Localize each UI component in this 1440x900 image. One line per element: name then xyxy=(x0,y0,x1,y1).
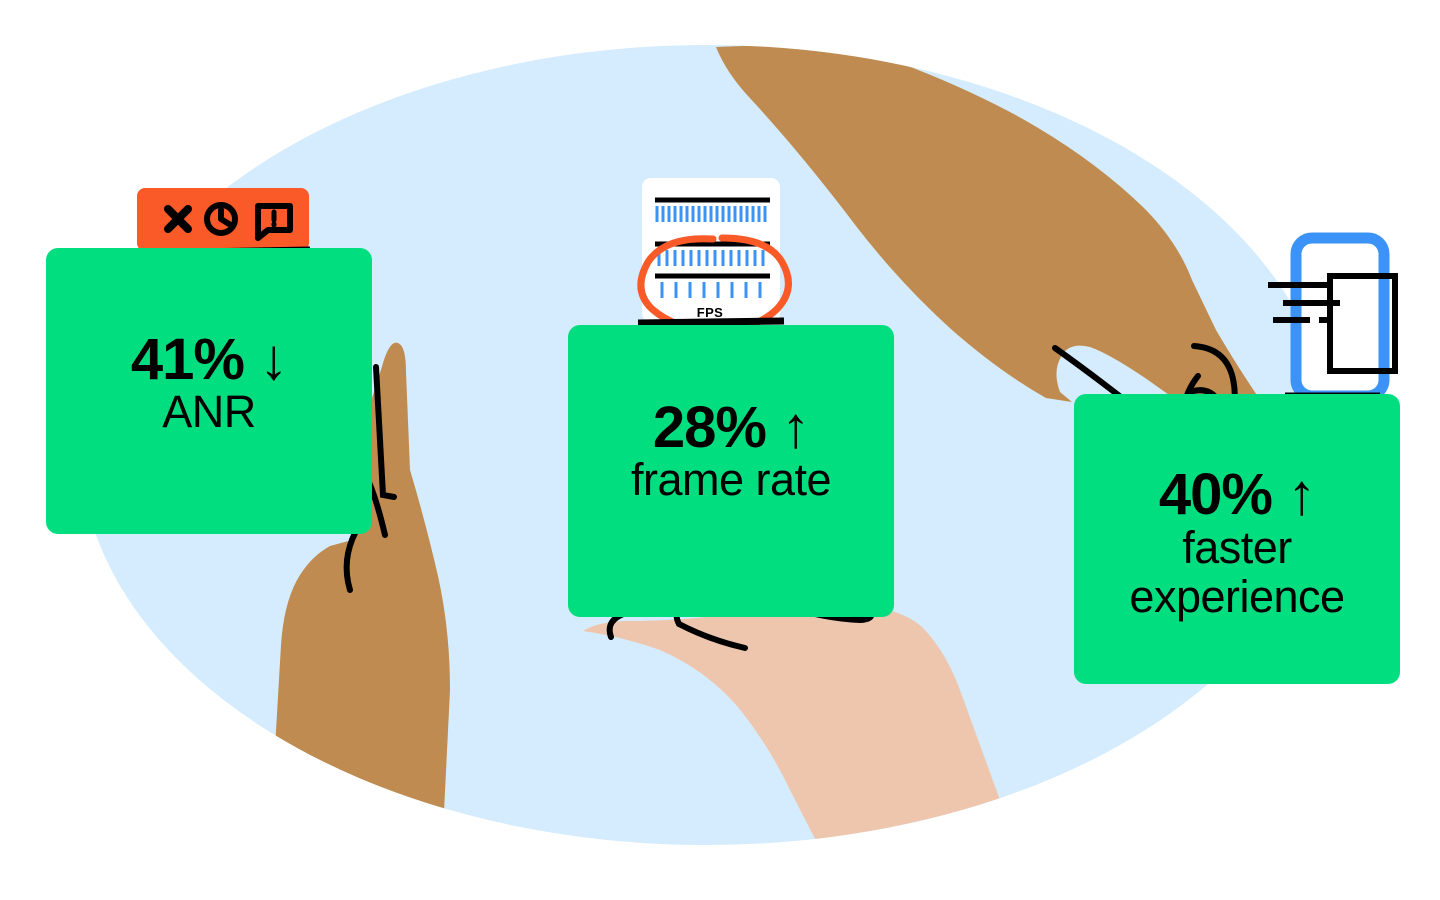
fps-card-base-line xyxy=(638,321,784,323)
illustration-stage: FPS 41% ↓ ANR 28% ↑ frame rate 40% ↑ fas… xyxy=(0,0,1440,900)
stat-card-frame-rate[interactable] xyxy=(568,325,894,617)
stat-card-anr[interactable] xyxy=(46,248,372,534)
error-badge xyxy=(137,188,310,253)
stat-card-faster-experience[interactable] xyxy=(1074,394,1400,684)
fps-chart-card xyxy=(638,178,788,330)
performance-stats-illustration xyxy=(0,0,1440,900)
